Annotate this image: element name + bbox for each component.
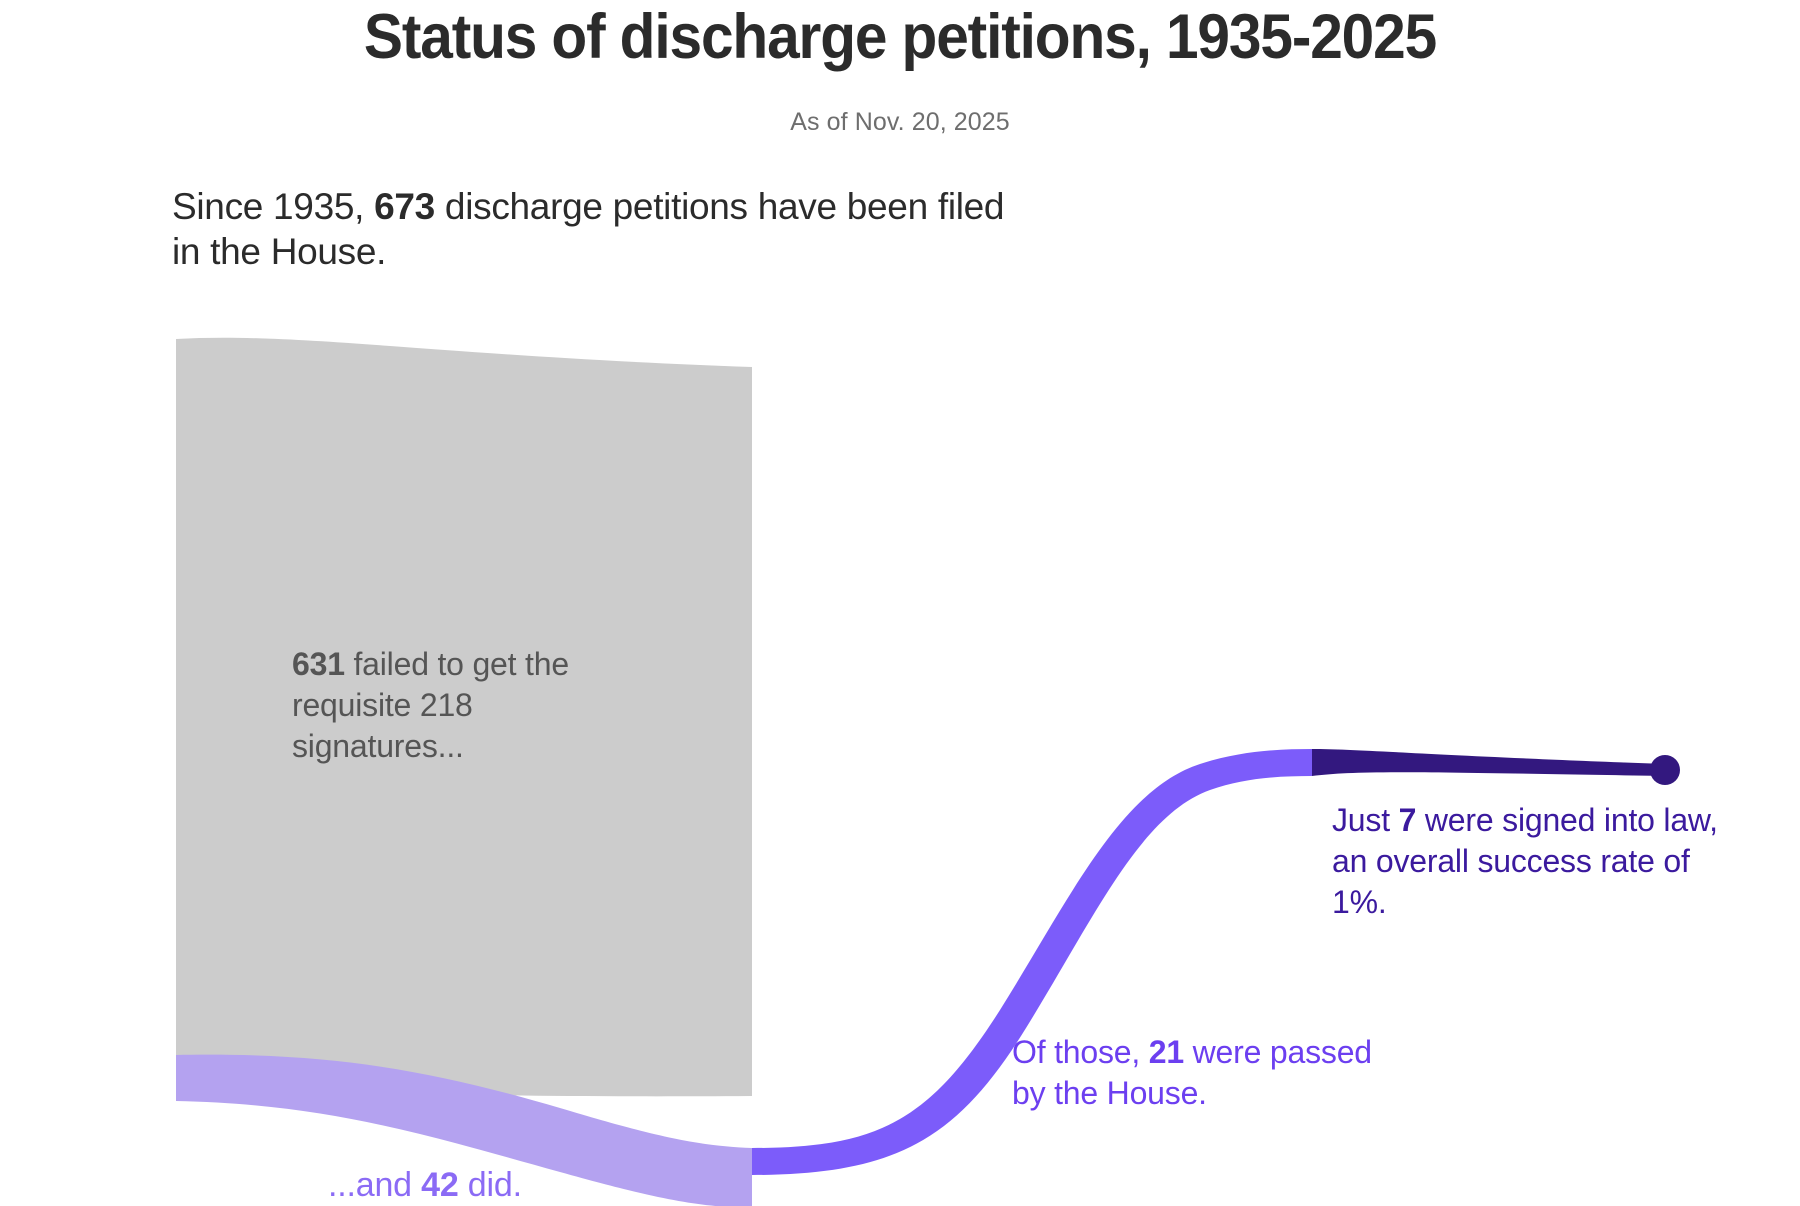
label-law-value: 7 <box>1399 802 1417 838</box>
label-did-prefix: ...and <box>328 1166 421 1204</box>
label-did-value: 42 <box>421 1166 458 1204</box>
label-failed-value: 631 <box>292 646 345 682</box>
sankey-flow-svg <box>0 0 1800 1206</box>
endpoint-dot-icon <box>1650 755 1680 785</box>
label-passed-prefix: Of those, <box>1012 1034 1149 1070</box>
label-did-suffix: did. <box>459 1166 522 1204</box>
chart-canvas: Status of discharge petitions, 1935-2025… <box>0 0 1800 1206</box>
label-law-prefix: Just <box>1332 802 1399 838</box>
label-signed-into-law: Just 7 were signed into law, an overall … <box>1332 800 1732 923</box>
label-got-signatures: ...and 42 did. <box>328 1164 522 1206</box>
flow-band-law <box>1312 749 1664 776</box>
label-failed: 631 failed to get the requisite 218 sign… <box>292 644 622 767</box>
label-passed: Of those, 21 were passed by the House. <box>1012 1032 1372 1114</box>
label-passed-value: 21 <box>1149 1034 1184 1070</box>
